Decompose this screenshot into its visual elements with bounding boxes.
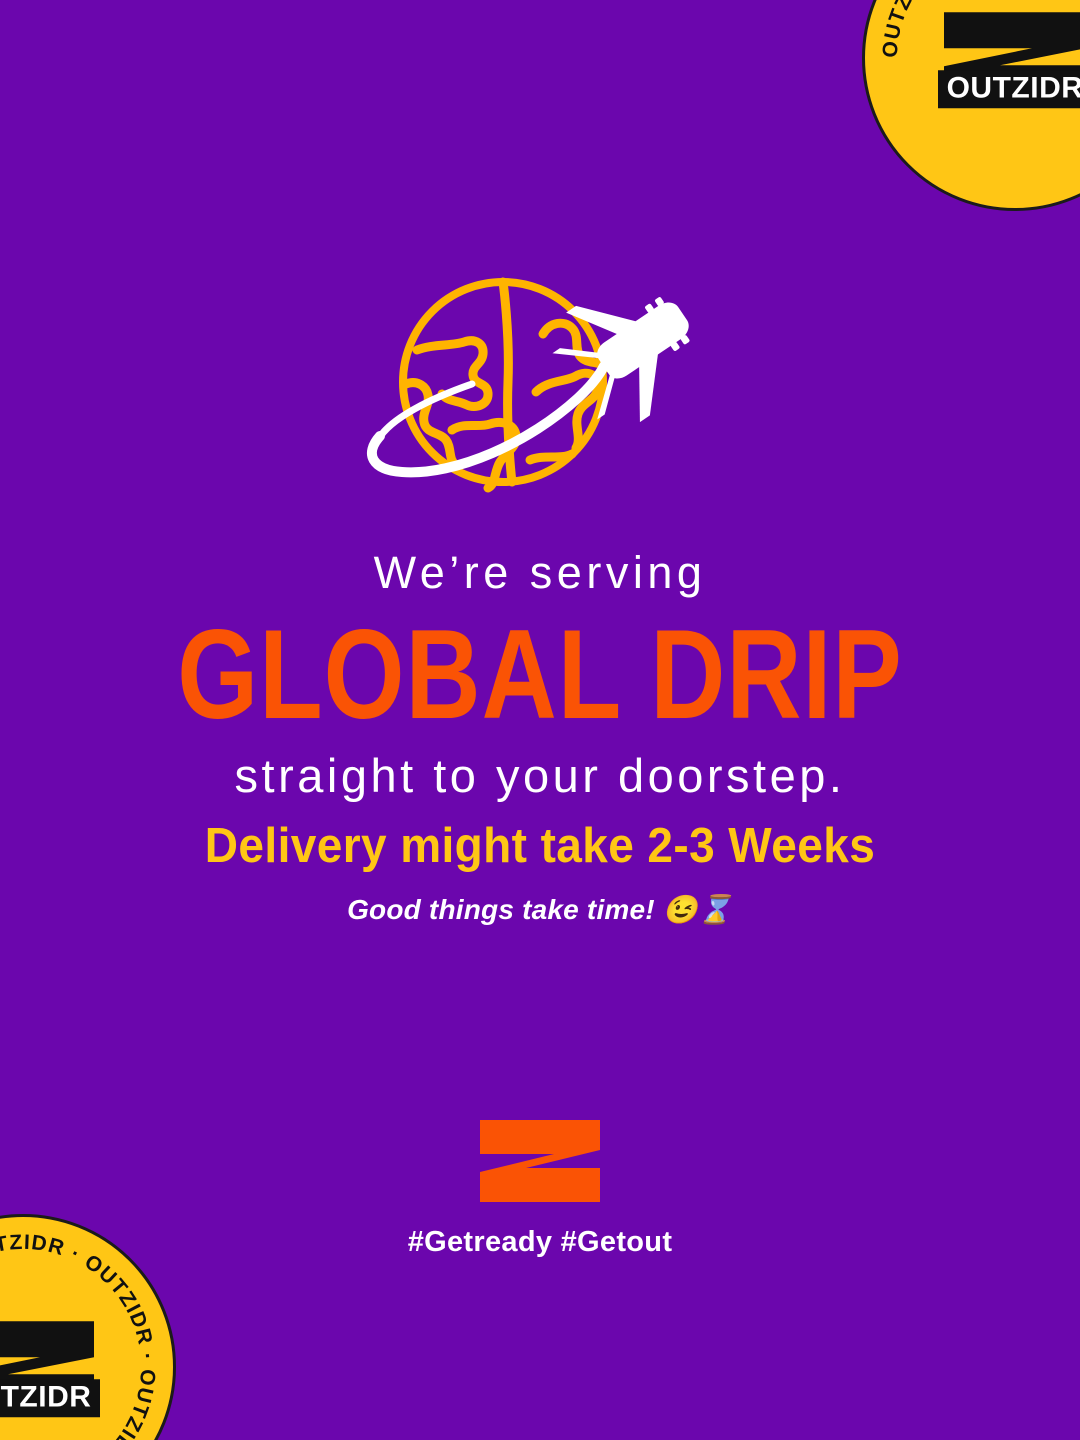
- globe-airplane-artwork: [360, 272, 720, 512]
- badge-center-bottom-left: OUTZIDR: [0, 1317, 112, 1417]
- globe-airplane-svg: [360, 272, 720, 512]
- promo-poster: OUTZIDR · OUTZIDR · OUTZIDR · OUTZIDR · …: [0, 0, 1080, 1440]
- z-logo-icon: [478, 1118, 602, 1204]
- badge-center-word: OUTZIDR: [938, 70, 1080, 108]
- brand-sticker-badge-top-right: OUTZIDR · OUTZIDR · OUTZIDR · OUTZIDR · …: [862, 0, 1080, 211]
- delivery-reassurance: Good things take time! 😉⌛: [30, 893, 1050, 927]
- airplane-icon: [538, 272, 720, 441]
- badge-center-top-right: OUTZIDR: [926, 8, 1080, 108]
- headline-block: We’re serving GLOBAL DRIP straight to yo…: [0, 548, 1080, 803]
- footer-hashtags: #Getready #Getout: [408, 1226, 673, 1259]
- headline-subtitle: straight to your doorstep.: [40, 750, 1040, 803]
- badge-center-word: OUTZIDR: [0, 1379, 100, 1417]
- page-title: GLOBAL DRIP: [40, 612, 1040, 739]
- delivery-notice-block: Delivery might take 2-3 Weeks Good thing…: [0, 820, 1080, 926]
- delivery-time-notice: Delivery might take 2-3 Weeks: [30, 818, 1050, 872]
- brand-sticker-badge-bottom-left: OUTZIDR · OUTZIDR · OUTZIDR · OUTZIDR · …: [0, 1214, 176, 1440]
- headline-eyebrow: We’re serving: [40, 548, 1040, 598]
